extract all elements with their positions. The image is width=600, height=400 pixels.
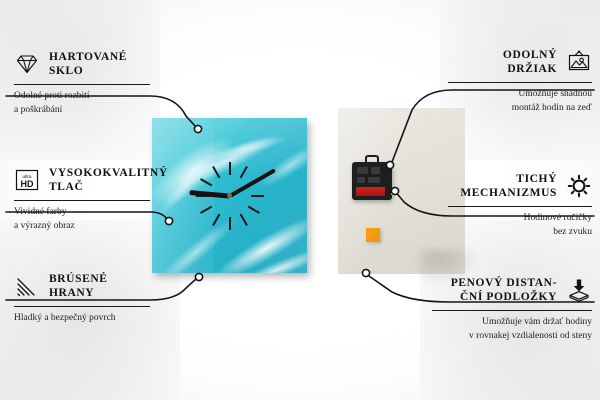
feature-desc-line2: v rovnakej vzdialenosti od steny — [428, 330, 592, 344]
feature-title-line1: VYSOKOKVALITNÝ — [49, 166, 168, 180]
feature-titles: HARTOVANÉ SKLO — [49, 50, 127, 78]
feature-description: Umožňuje snadnou montáž hodin na zeď — [444, 88, 592, 116]
feature-divider — [448, 206, 592, 207]
feature-silent-mechanism: TICHÝ MECHANIZMUS Hodinové ručičky bez z… — [444, 172, 592, 240]
feature-title-line2: TLAČ — [49, 180, 168, 194]
feature-desc-line2: montáž hodin na zeď — [444, 102, 592, 116]
feature-header: PENOVÝ DISTAN- ČNÍ PODLOŽKY — [428, 276, 592, 304]
mechanism-detail — [368, 177, 380, 183]
feature-title-line1: BRÚSENÉ — [49, 272, 108, 286]
feature-desc-line1: Vividné farby — [14, 206, 154, 220]
mechanism-detail — [357, 177, 365, 183]
feature-desc-line2: a výrazný obraz — [14, 220, 154, 234]
feature-title-line1: TICHÝ — [460, 172, 557, 186]
clock-mechanism — [352, 162, 392, 200]
feature-titles: TICHÝ MECHANIZMUS — [460, 172, 557, 200]
feature-header: HARTOVANÉ SKLO — [14, 50, 154, 78]
mechanism-detail — [357, 167, 368, 174]
feature-desc-line1: Hodinové ručičky — [444, 212, 592, 226]
feature-description: Hladký a bezpečný povrch — [14, 312, 154, 326]
feature-header: TICHÝ MECHANIZMUS — [444, 172, 592, 200]
gear-icon — [566, 173, 592, 199]
ultra-hd-icon: ultra HD — [14, 167, 40, 193]
mechanism-battery-terminal — [391, 189, 395, 195]
feature-title-line2: MECHANIZMUS — [460, 186, 557, 200]
feature-desc-line2: bez zvuku — [444, 226, 592, 240]
product-photo — [120, 100, 465, 278]
mechanism-battery — [356, 187, 385, 196]
mechanism-detail — [371, 167, 380, 174]
diamond-icon — [14, 51, 40, 77]
wall-clock — [152, 118, 307, 273]
feature-titles: ODOLNÝ DRŽIAK — [503, 48, 557, 76]
feature-header: ODOLNÝ DRŽIAK — [444, 48, 592, 76]
feature-desc-line1: Odolné proti rozbití — [14, 90, 154, 104]
infographic-canvas: HARTOVANÉ SKLO Odolné proti rozbití a po… — [0, 0, 600, 400]
feature-durable-hanger: ODOLNÝ DRŽIAK Umožňuje snadnou montáž ho… — [444, 48, 592, 116]
feature-desc-line1: Umožňuje vám držať hodiny — [428, 316, 592, 330]
feature-divider — [448, 82, 592, 83]
feature-desc-line1: Umožňuje snadnou — [444, 88, 592, 102]
feature-titles: BRÚSENÉ HRANY — [49, 272, 108, 300]
feature-divider — [14, 84, 150, 85]
feature-desc-line2: a poškrábání — [14, 104, 154, 118]
feature-title-line2: SKLO — [49, 64, 127, 78]
feature-divider — [14, 200, 150, 201]
svg-text:HD: HD — [21, 179, 34, 189]
ground-edges-icon — [14, 273, 40, 299]
feature-title-line1: HARTOVANÉ — [49, 50, 127, 64]
feature-title-line1: PENOVÝ DISTAN- — [451, 276, 557, 290]
feature-titles: VYSOKOKVALITNÝ TLAČ — [49, 166, 168, 194]
feature-divider — [432, 310, 592, 311]
foam-pad-press-icon — [566, 277, 592, 303]
feature-description: Odolné proti rozbití a poškrábání — [14, 90, 154, 118]
feature-desc-line1: Hladký a bezpečný povrch — [14, 312, 154, 326]
feature-hardened-glass: HARTOVANÉ SKLO Odolné proti rozbití a po… — [14, 50, 154, 118]
feature-ground-edges: BRÚSENÉ HRANY Hladký a bezpečný povrch — [14, 272, 154, 326]
feature-titles: PENOVÝ DISTAN- ČNÍ PODLOŽKY — [451, 276, 557, 304]
feature-foam-spacers: PENOVÝ DISTAN- ČNÍ PODLOŽKY Umožňuje vám… — [428, 276, 592, 344]
feature-title-line2: DRŽIAK — [503, 62, 557, 76]
feature-title-line2: ČNÍ PODLOŽKY — [451, 290, 557, 304]
feature-header: ultra HD VYSOKOKVALITNÝ TLAČ — [14, 166, 154, 194]
feature-description: Umožňuje vám držať hodiny v rovnakej vzd… — [428, 316, 592, 344]
foam-spacer-pad — [366, 228, 380, 242]
clock-center-cap — [227, 193, 232, 198]
feature-header: BRÚSENÉ HRANY — [14, 272, 154, 300]
feature-description: Hodinové ručičky bez zvuku — [444, 212, 592, 240]
picture-hanger-icon — [566, 49, 592, 75]
feature-title-line2: HRANY — [49, 286, 108, 300]
feature-divider — [14, 306, 150, 307]
feature-description: Vividné farby a výrazný obraz — [14, 206, 154, 234]
feature-high-quality-print: ultra HD VYSOKOKVALITNÝ TLAČ Vividné far… — [14, 166, 154, 234]
mechanism-body — [352, 162, 392, 200]
feature-title-line1: ODOLNÝ — [503, 48, 557, 62]
